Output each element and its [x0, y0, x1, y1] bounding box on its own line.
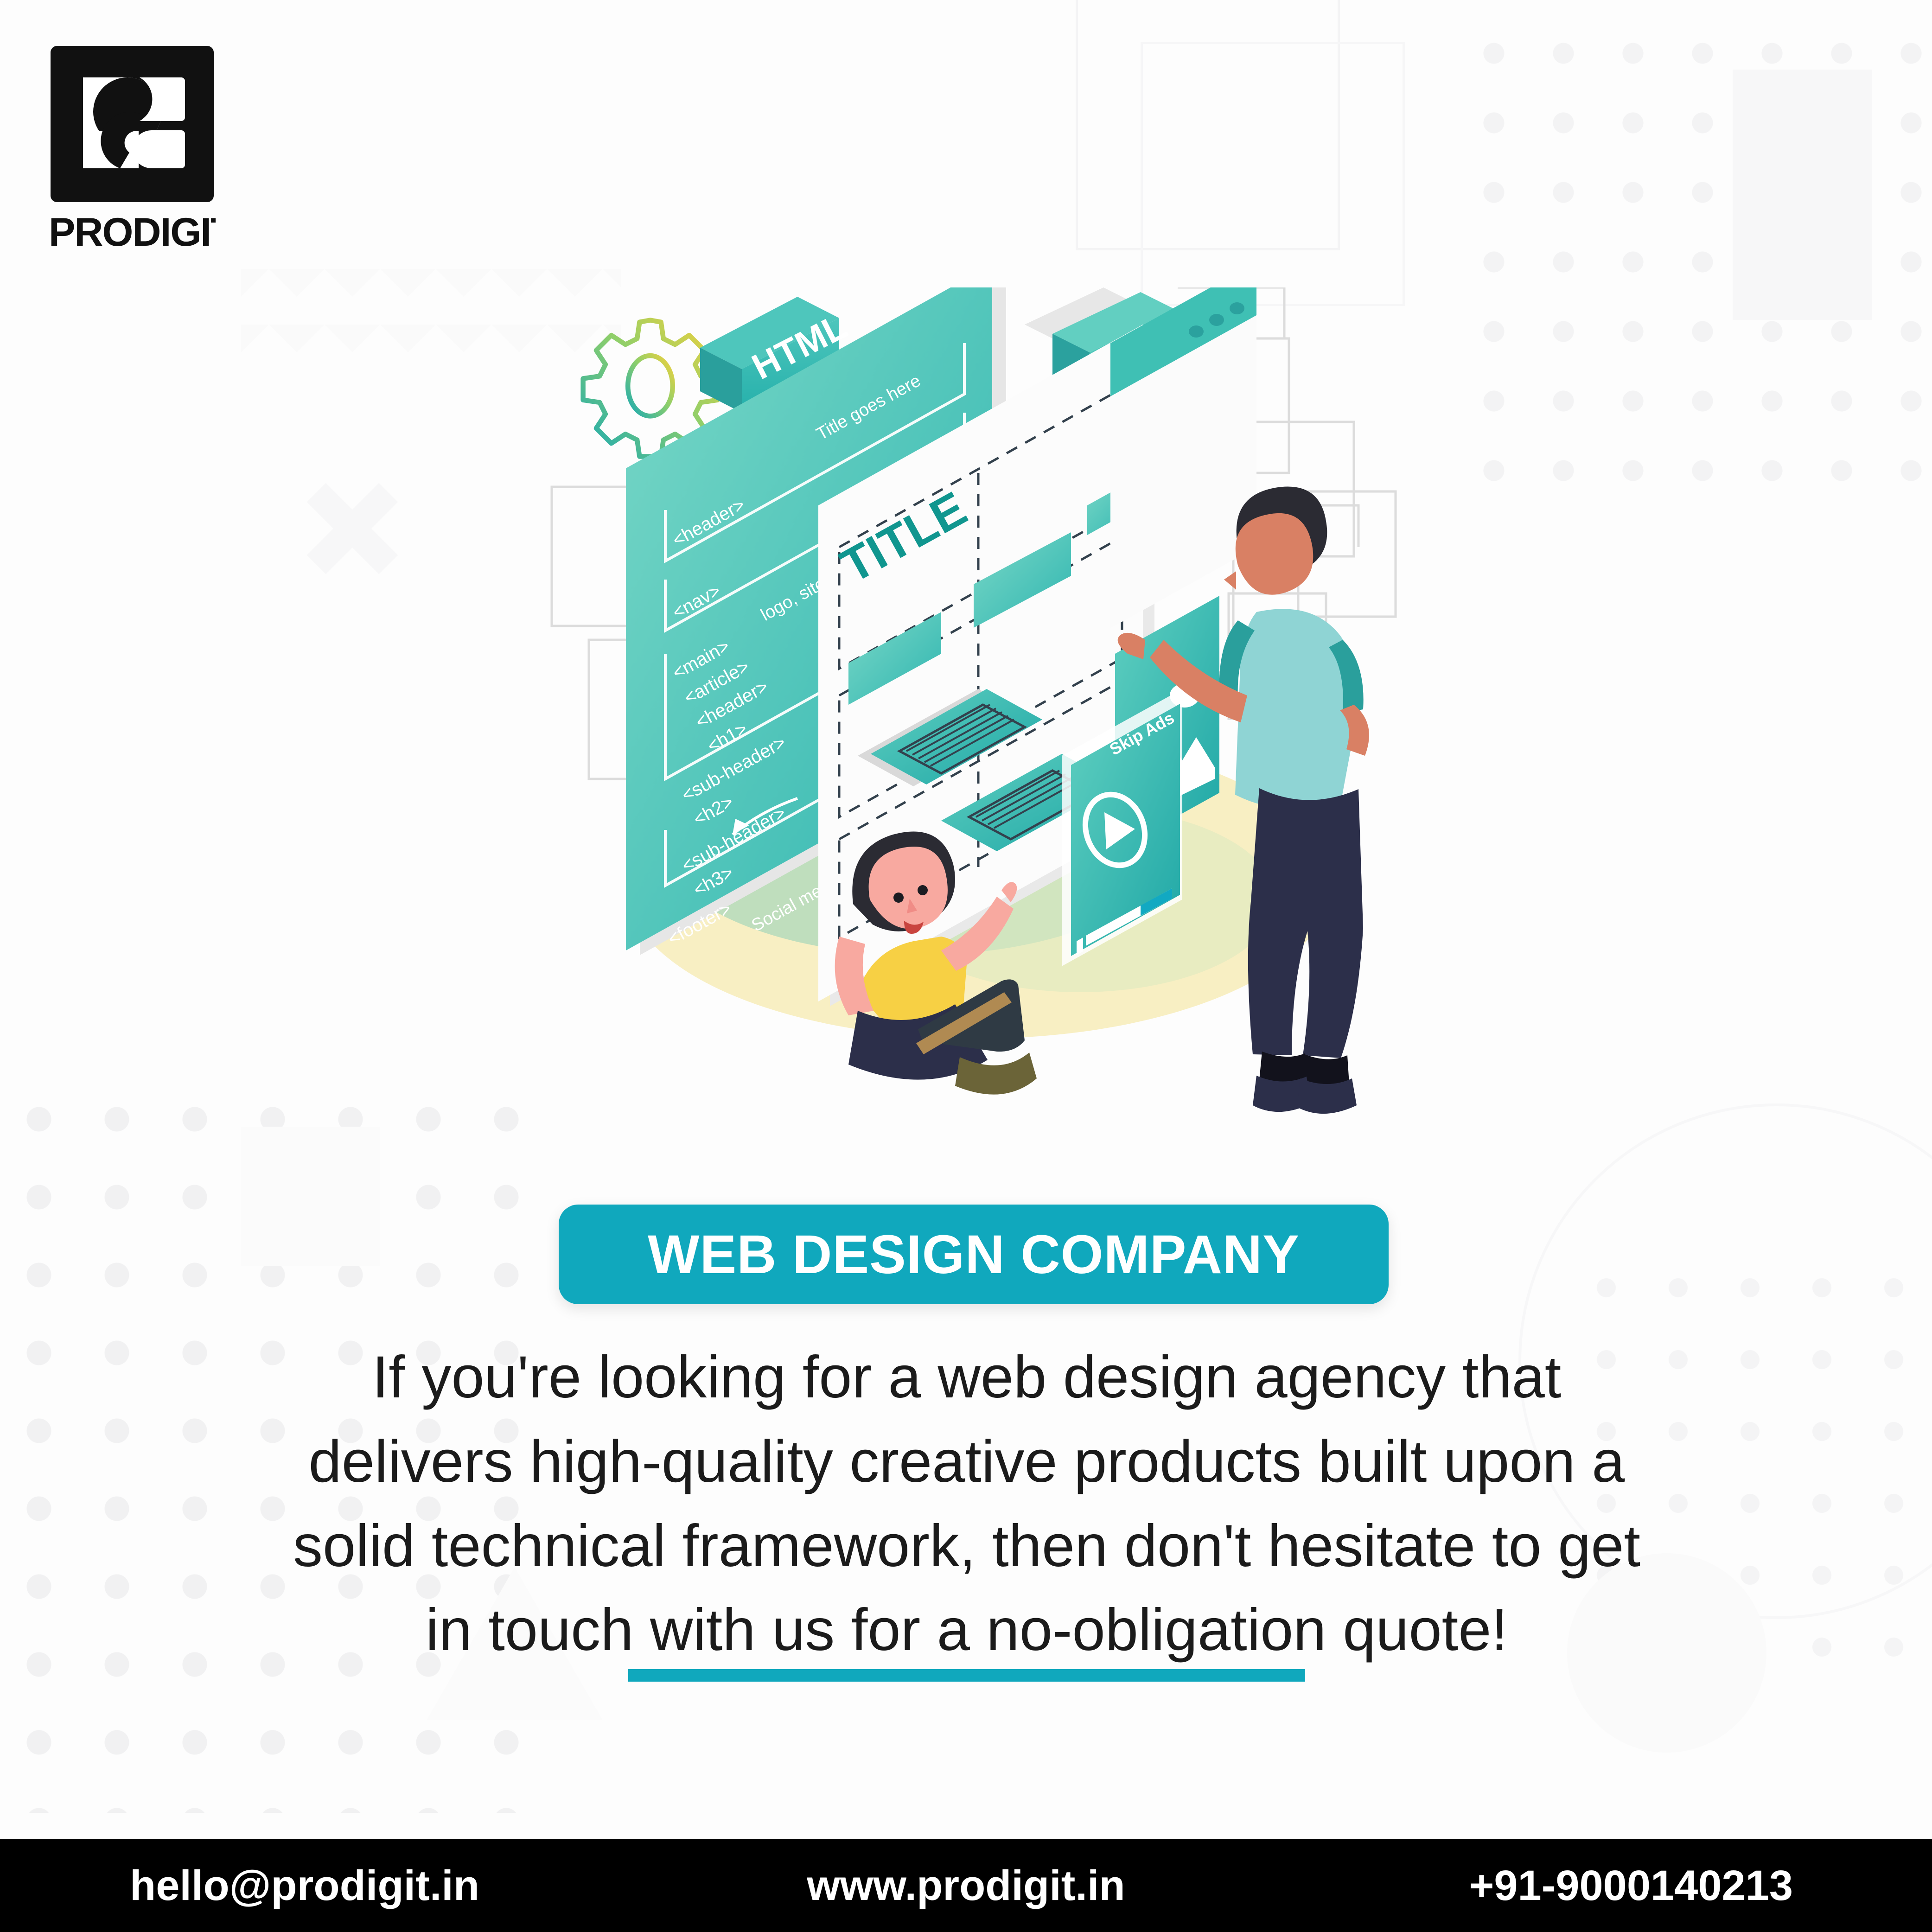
footer-phone[interactable]: +91-9000140213: [1469, 1862, 1793, 1910]
paragraph-line-4: in touch with us for a no-obligation quo…: [195, 1588, 1739, 1672]
dot-grid-pattern-right: [1459, 19, 1932, 482]
poster-canvas: PRODIGIT: [0, 0, 1932, 1932]
ghost-square-decoration-2: [241, 1127, 380, 1266]
hero-illustration: HTML: [533, 287, 1414, 1122]
paragraph-line-2: delivers high-quality creative products …: [195, 1420, 1739, 1504]
body-paragraph: If you're looking for a web design agenc…: [195, 1335, 1739, 1672]
paragraph-line-1: If you're looking for a web design agenc…: [195, 1335, 1739, 1420]
accent-divider: [628, 1669, 1305, 1682]
paragraph-line-3: solid technical framework, then don't he…: [195, 1504, 1739, 1588]
prodigit-mark-icon: [49, 44, 216, 204]
contact-footer-bar: hello@prodigit.in www.prodigit.in +91-90…: [0, 1839, 1932, 1932]
x-shape-decoration: [301, 478, 403, 580]
square-outline-decoration-2: [1141, 42, 1405, 306]
svg-text:PRODIGIT: PRODIGIT: [49, 212, 216, 252]
ghost-square-decoration: [1733, 70, 1872, 320]
brand-logo: PRODIGIT: [49, 44, 243, 252]
banner-label: WEB DESIGN COMPANY: [648, 1223, 1300, 1286]
standing-shirt: [1235, 609, 1357, 808]
footer-website[interactable]: www.prodigit.in: [807, 1862, 1125, 1910]
footer-email[interactable]: hello@prodigit.in: [130, 1862, 479, 1910]
square-outline-decoration-1: [1076, 0, 1340, 250]
prodigit-wordmark: PRODIGIT: [49, 212, 216, 252]
web-design-company-banner[interactable]: WEB DESIGN COMPANY: [559, 1205, 1389, 1304]
standing-pants: [1248, 788, 1363, 1058]
standing-head: [1236, 513, 1314, 595]
